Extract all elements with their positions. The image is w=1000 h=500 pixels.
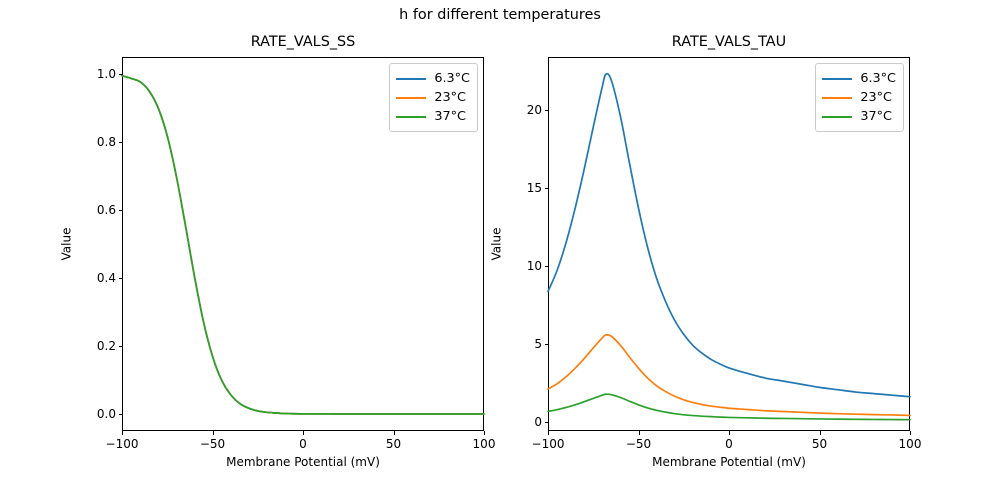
legend-swatch-37c [822, 116, 852, 118]
legend-label-23c: 23°C [434, 90, 466, 105]
matplotlib-figure: h for different temperatures RATE_VALS_S… [0, 0, 1000, 500]
y-tick-mark [545, 266, 549, 267]
x-tick-mark [820, 431, 821, 435]
x-tick-mark [394, 431, 395, 435]
y-tick-label: 0.4 [97, 271, 116, 285]
x-tick-mark [484, 431, 485, 435]
x-tick-mark [910, 431, 911, 435]
axes-right-title: RATE_VALS_TAU [548, 33, 910, 51]
legend-item[interactable]: 23°C [822, 88, 896, 107]
series-line-37c [548, 394, 910, 420]
legend-right[interactable]: 6.3°C 23°C 37°C [815, 63, 904, 132]
y-tick-label: 0 [534, 415, 542, 429]
legend-item[interactable]: 37°C [822, 107, 896, 126]
y-tick-label: 0.2 [97, 339, 116, 353]
x-tick-label: 0 [299, 437, 307, 451]
y-tick-mark [545, 110, 549, 111]
x-tick-mark [639, 431, 640, 435]
y-tick-mark [119, 74, 123, 75]
legend-swatch-37c [396, 116, 426, 118]
y-tick-label: 15 [527, 181, 542, 195]
figure-suptitle: h for different temperatures [0, 6, 1000, 24]
x-tick-label: 100 [899, 437, 922, 451]
legend-item[interactable]: 6.3°C [822, 69, 896, 88]
x-tick-label: 50 [812, 437, 827, 451]
y-tick-mark [119, 278, 123, 279]
x-tick-label: −50 [200, 437, 225, 451]
legend-label-37c: 37°C [860, 109, 892, 124]
x-tick-mark [122, 431, 123, 435]
axes-left-title: RATE_VALS_SS [122, 33, 484, 51]
legend-label-6-3c: 6.3°C [434, 71, 470, 86]
x-tick-label: −100 [106, 437, 139, 451]
x-tick-label: 0 [725, 437, 733, 451]
axes-rate-vals-ss: RATE_VALS_SS Value Membrane Potential (m… [122, 57, 484, 431]
y-tick-label: 0.0 [97, 407, 116, 421]
legend-swatch-6-3c [396, 78, 426, 80]
y-tick-label: 0.6 [97, 203, 116, 217]
x-tick-label: −100 [532, 437, 565, 451]
x-tick-mark [213, 431, 214, 435]
axes-left-xlabel: Membrane Potential (mV) [122, 455, 484, 469]
axes-right-xlabel: Membrane Potential (mV) [548, 455, 910, 469]
x-tick-mark [729, 431, 730, 435]
axes-rate-vals-tau: RATE_VALS_TAU Value Membrane Potential (… [548, 57, 910, 431]
y-tick-mark [545, 422, 549, 423]
x-tick-label: 50 [386, 437, 401, 451]
legend-item[interactable]: 37°C [396, 107, 470, 126]
legend-left[interactable]: 6.3°C 23°C 37°C [389, 63, 478, 132]
axes-right-ylabel: Value [489, 228, 503, 261]
y-tick-label: 1.0 [97, 67, 116, 81]
y-tick-mark [545, 344, 549, 345]
y-tick-label: 10 [527, 259, 542, 273]
x-tick-label: −50 [626, 437, 651, 451]
x-tick-label: 100 [473, 437, 496, 451]
series-line-23c [548, 335, 910, 416]
legend-swatch-23c [396, 97, 426, 99]
y-tick-mark [545, 188, 549, 189]
legend-swatch-23c [822, 97, 852, 99]
axes-left-ylabel: Value [59, 228, 73, 261]
legend-item[interactable]: 6.3°C [396, 69, 470, 88]
legend-swatch-6-3c [822, 78, 852, 80]
legend-label-6-3c: 6.3°C [860, 71, 896, 86]
y-tick-mark [119, 142, 123, 143]
x-tick-mark [303, 431, 304, 435]
y-tick-mark [119, 414, 123, 415]
legend-item[interactable]: 23°C [396, 88, 470, 107]
y-tick-label: 5 [534, 337, 542, 351]
y-tick-label: 20 [527, 103, 542, 117]
y-tick-mark [119, 346, 123, 347]
y-tick-label: 0.8 [97, 135, 116, 149]
y-tick-mark [119, 210, 123, 211]
x-tick-mark [548, 431, 549, 435]
legend-label-37c: 37°C [434, 109, 466, 124]
legend-label-23c: 23°C [860, 90, 892, 105]
